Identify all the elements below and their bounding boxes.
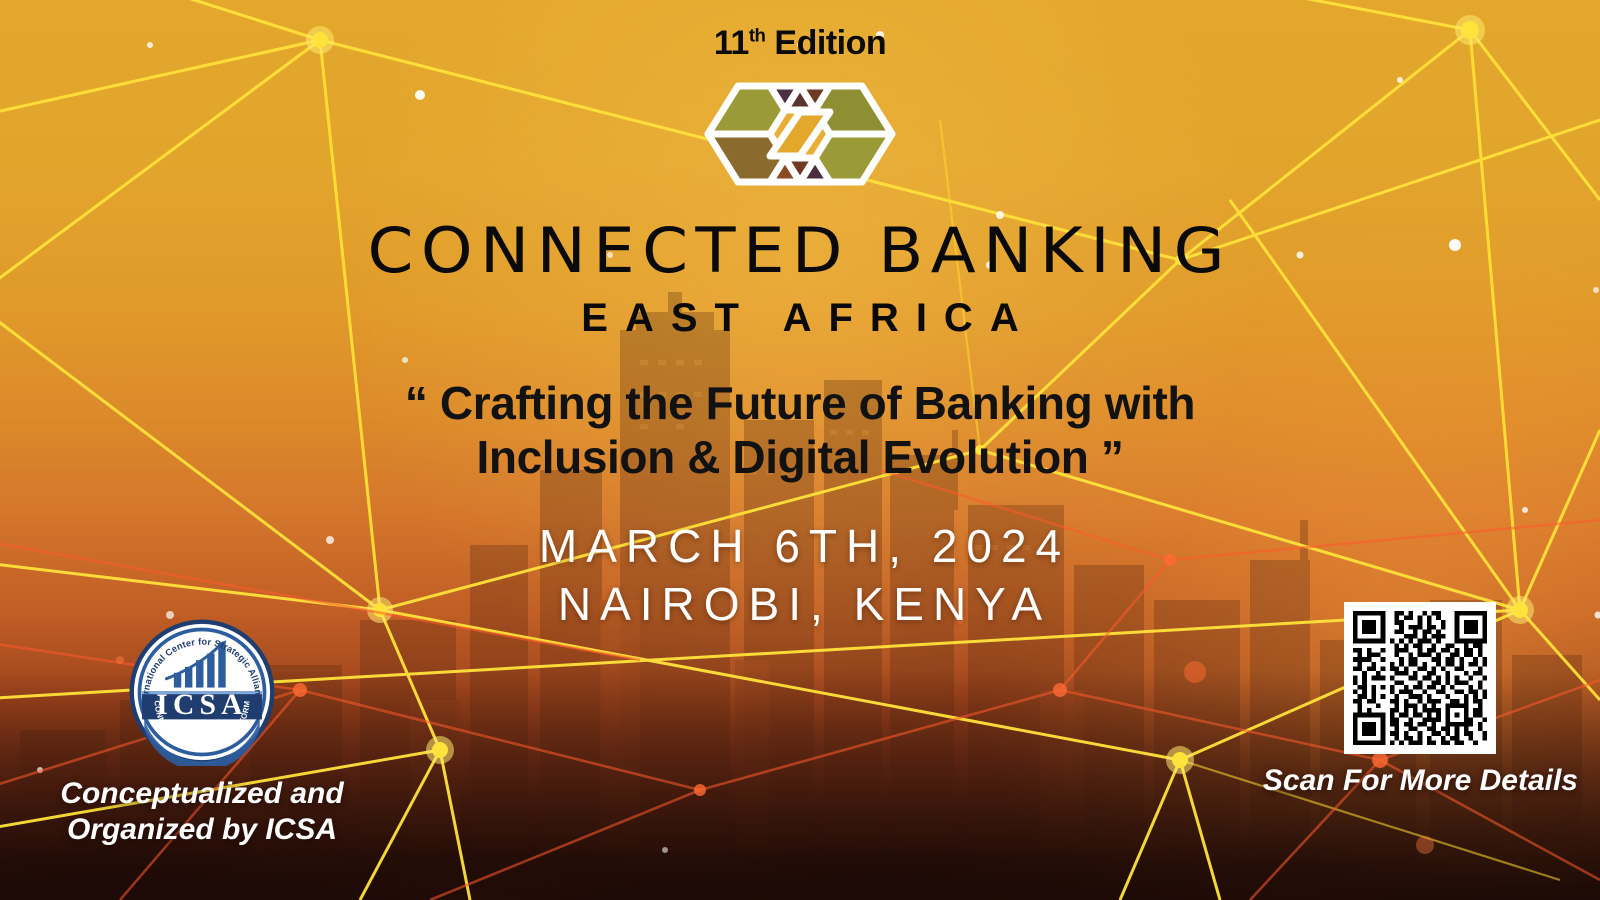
qr-code-icon[interactable]: [1344, 602, 1496, 754]
organizer-block: ICSA International Center for Strategic …: [22, 618, 382, 848]
edition-word: Edition: [774, 24, 886, 62]
organizer-credit-line-2: Organized by ICSA: [60, 812, 343, 848]
edition-number: 11: [714, 24, 749, 62]
tagline-close-quote: ”: [1101, 431, 1124, 483]
hexagon-diamond-logo-icon: [700, 68, 900, 198]
event-date: MARCH 6TH, 2024: [530, 519, 1070, 573]
event-banner: 11th Edition: [0, 0, 1600, 900]
tagline-line-2: Inclusion & Digital Evolution: [477, 431, 1089, 483]
edition-label: 11th Edition: [714, 26, 886, 60]
organizer-credit-line-1: Conceptualized and: [60, 776, 343, 812]
organizer-credit: Conceptualized and Organized by ICSA: [60, 776, 343, 848]
event-wordmark: CONNECTED BANKING: [368, 220, 1232, 282]
tagline-line-1: Crafting the Future of Banking with: [440, 377, 1195, 429]
qr-caption: Scan For More Details: [1263, 764, 1578, 798]
edition-ordinal: th: [749, 25, 766, 46]
tagline-open-quote: “: [405, 377, 428, 429]
icsa-seal-icon: ICSA International Center for Strategic …: [128, 618, 276, 766]
event-location: NAIROBI, KENYA: [549, 577, 1051, 631]
icsa-acronym: ICSA: [156, 689, 247, 721]
event-region: EAST AFRICA: [564, 298, 1035, 338]
qr-block: Scan For More Details: [1263, 602, 1578, 798]
event-tagline: “ Crafting the Future of Banking with In…: [405, 376, 1195, 485]
